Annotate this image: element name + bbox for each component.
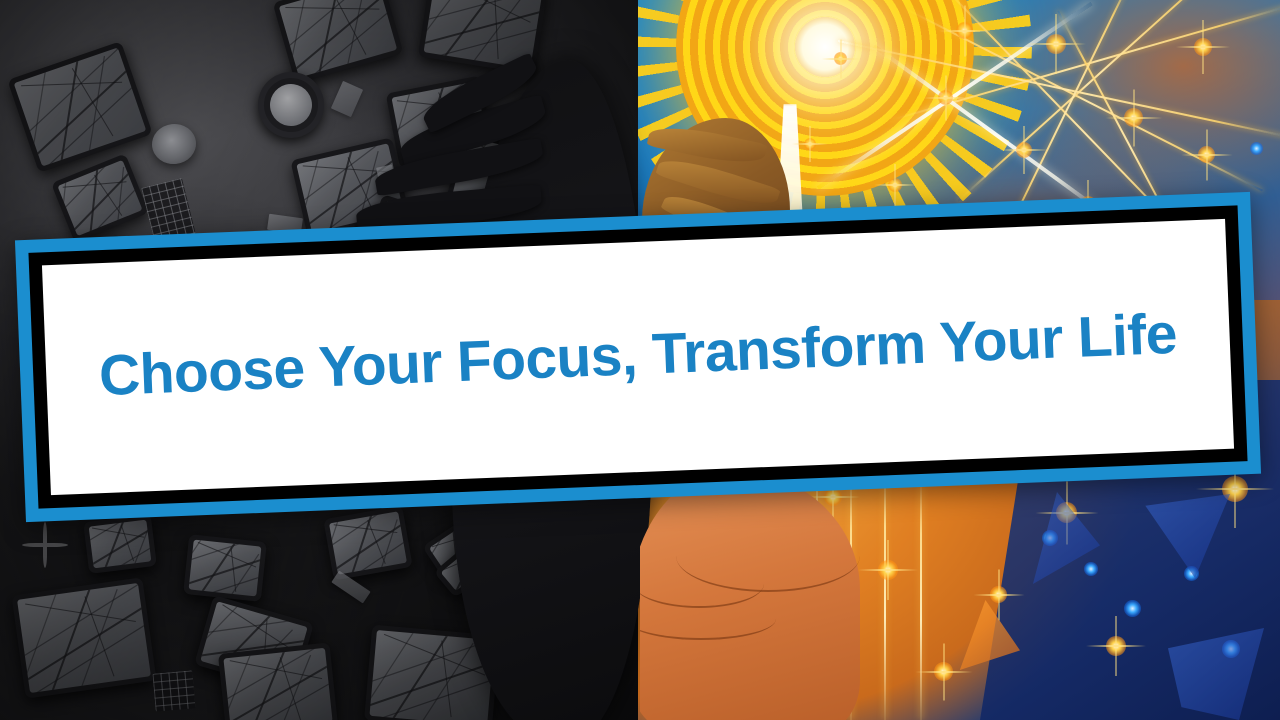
light-ray [850,466,852,720]
sparkle-star [734,520,756,542]
sparkle-star [760,652,784,676]
cracked-tablet [83,514,157,574]
cracked-tablet [323,506,413,581]
debris-chip [539,645,585,669]
light-ray [780,468,782,720]
light-ray [708,470,710,720]
camera-lens [150,122,198,166]
cracked-tablet [444,130,566,233]
wristwatch [254,68,329,143]
cracked-tablet [11,577,156,698]
sparkle-star [934,662,953,681]
star-node [834,52,847,65]
star-node [1194,38,1212,56]
star-node [1198,146,1215,163]
star-node [888,178,902,192]
blue-glow-node [1250,142,1263,155]
cracked-phone [51,153,149,242]
sparkle-star [990,586,1007,603]
debris-chip [549,589,570,618]
banner-inner-border: Choose Your Focus, Transform Your Life [28,205,1247,508]
blue-glow-node [1124,600,1141,617]
cracked-tablet [183,534,267,602]
title-banner: Choose Your Focus, Transform Your Life [15,192,1261,522]
light-core [794,16,856,78]
cracked-tablet [7,41,152,173]
banner-canvas: Choose Your Focus, Transform Your Life [42,219,1234,495]
page-title: Choose Your Focus, Transform Your Life [98,301,1178,409]
sparkle [22,522,68,568]
star-node [1046,34,1066,54]
star-node [1124,108,1143,127]
star-node [956,22,973,39]
keypad-device [152,670,195,711]
cracked-tablet [418,0,548,75]
star-node [938,90,953,105]
star-node [1016,142,1032,158]
blue-glow-node [1084,562,1098,576]
light-ray [920,472,922,720]
cracked-tablet [364,625,500,720]
slide-canvas: Choose Your Focus, Transform Your Life [0,0,1280,720]
star-node [804,138,816,150]
cracked-tablet [218,642,338,720]
light-ray [680,482,682,720]
debris-chip [331,81,363,117]
sparkle-star [878,560,898,580]
sparkle-star [1106,636,1126,656]
light-ray [884,462,886,720]
